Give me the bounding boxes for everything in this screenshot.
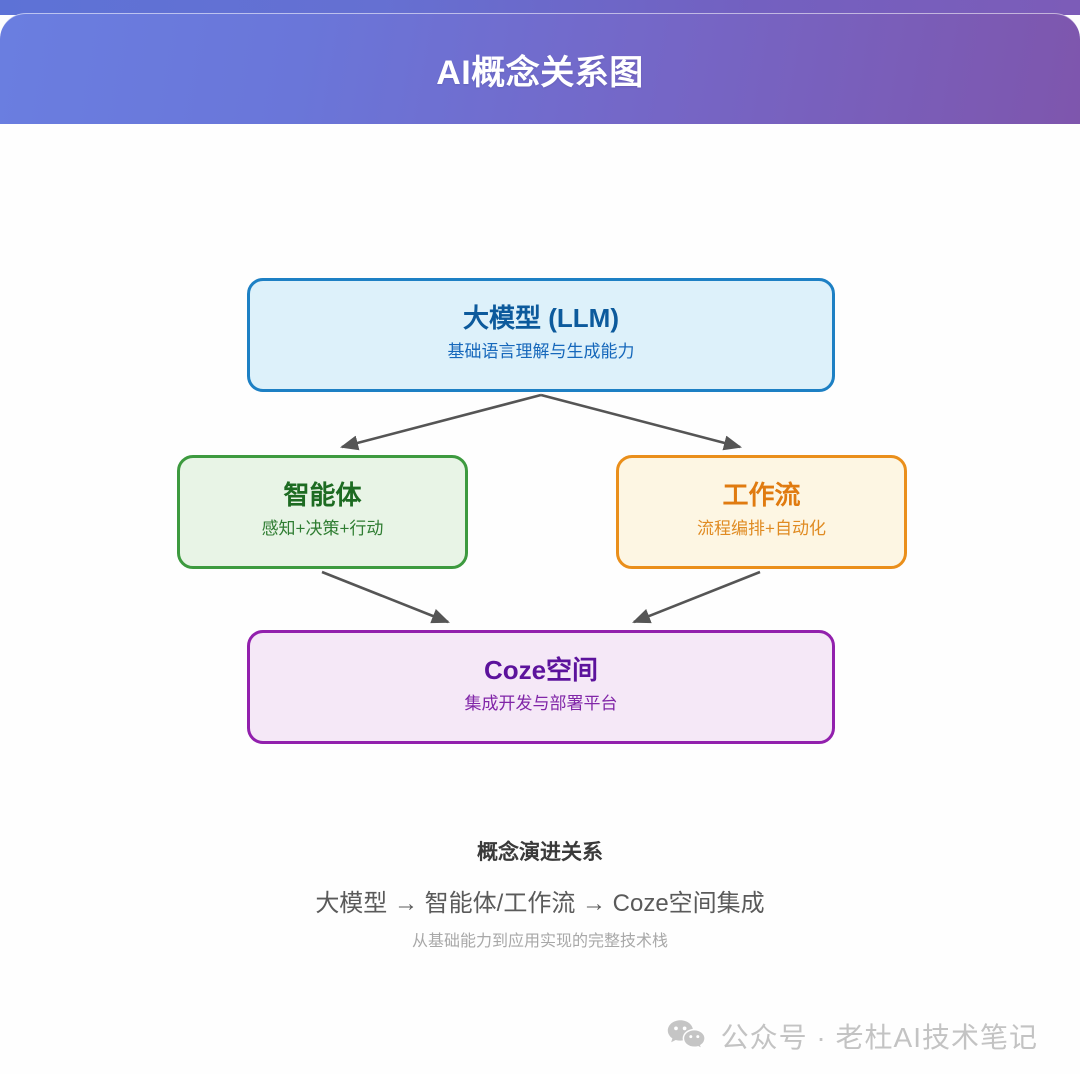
node-agent[interactable]: 智能体 感知+决策+行动: [177, 455, 468, 569]
edge-workflow-to-coze: [634, 572, 760, 622]
node-workflow[interactable]: 工作流 流程编排+自动化: [616, 455, 907, 569]
node-llm-title: 大模型 (LLM): [463, 303, 619, 334]
watermark-text: 公众号 · 老杜AI技术笔记: [721, 1016, 1038, 1056]
node-agent-title: 智能体: [283, 480, 361, 511]
watermark: 公众号 · 老杜AI技术笔记: [667, 1016, 1038, 1056]
concept-diagram: 大模型 (LLM) 基础语言理解与生成能力 智能体 感知+决策+行动 工作流 流…: [0, 124, 1080, 824]
caption-flow: 大模型 → 智能体/工作流 → Coze空间集成: [0, 887, 1080, 921]
caption-block: 概念演进关系 大模型 → 智能体/工作流 → Coze空间集成 从基础能力到应用…: [0, 838, 1080, 953]
node-coze[interactable]: Coze空间 集成开发与部署平台: [247, 630, 835, 744]
edge-llm-to-workflow: [541, 395, 740, 447]
wechat-icon: [667, 1019, 707, 1053]
caption-heading: 概念演进关系: [0, 838, 1080, 867]
node-llm[interactable]: 大模型 (LLM) 基础语言理解与生成能力: [247, 278, 835, 392]
caption-note: 从基础能力到应用实现的完整技术栈: [0, 931, 1080, 953]
node-coze-title: Coze空间: [484, 655, 598, 686]
node-agent-subtitle: 感知+决策+行动: [262, 518, 384, 539]
node-workflow-title: 工作流: [722, 480, 800, 511]
page-title: AI概念关系图: [436, 45, 644, 94]
node-coze-subtitle: 集成开发与部署平台: [465, 693, 618, 714]
node-workflow-subtitle: 流程编排+自动化: [697, 518, 826, 539]
edge-llm-to-agent: [342, 395, 541, 447]
edge-agent-to-coze: [322, 572, 448, 622]
node-llm-subtitle: 基础语言理解与生成能力: [448, 341, 635, 362]
page-root: AI概念关系图 大模型 (LLM) 基础语言理解与生成能力 智能体 感知+决: [0, 0, 1080, 1074]
header-banner: AI概念关系图: [0, 13, 1080, 124]
